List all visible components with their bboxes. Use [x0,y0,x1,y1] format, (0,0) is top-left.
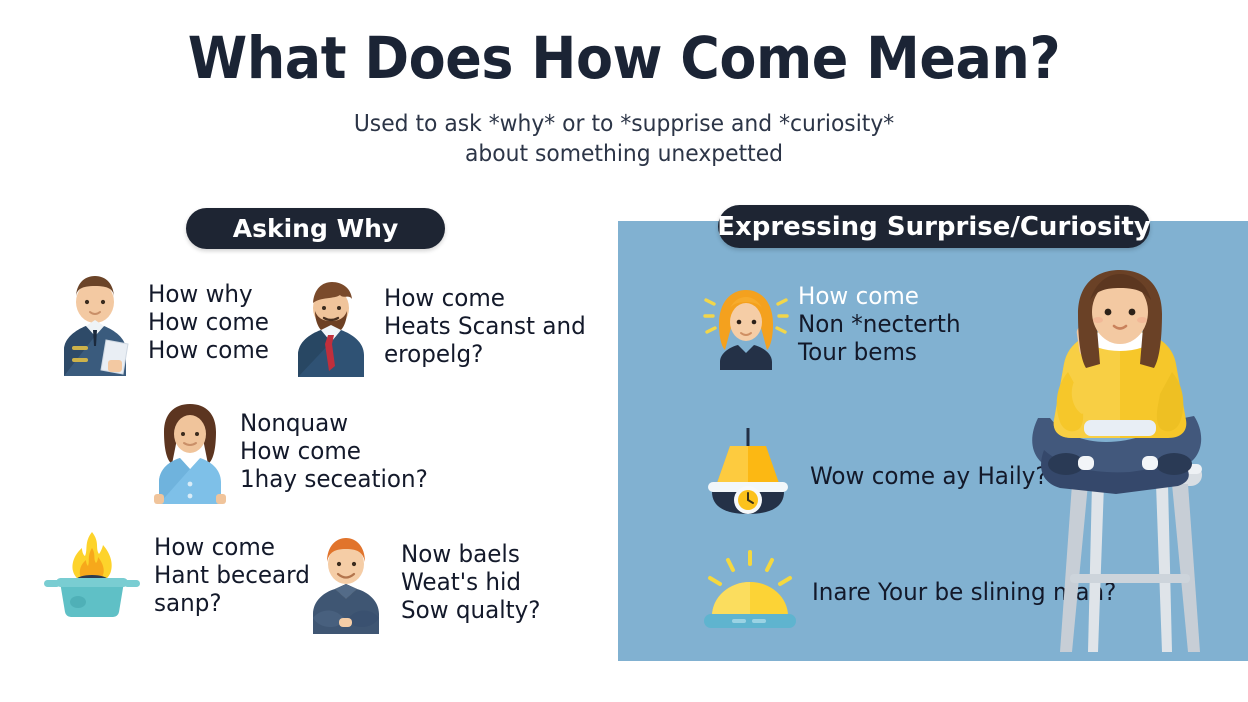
sunrise-icon [702,550,798,634]
item-asking-why-3: Nonquaw How come 1hay seceation? [150,398,436,504]
item-text: How why How come How come [148,280,269,364]
item-surprise-1: How come Non *necterth Tour bems [706,278,967,370]
text-line: sanp? [154,589,310,617]
item-text: Wow come ay Haily? [810,462,1048,490]
text-line-highlight: How come [798,282,961,310]
subtitle-line-1: Used to ask *why* or to *supprise and *c… [354,111,894,137]
bearded-businessman-icon [288,275,374,377]
text-line: How come [384,284,586,312]
woman-blue-blazer-icon [150,398,230,504]
item-asking-why-1: How why How come How come [52,268,274,376]
item-asking-why-4: How come Hant beceard sanp? [42,528,316,622]
page-title: What Does How Come Mean? [44,28,1205,89]
surprised-blonde-girl-icon [706,278,786,370]
text-line: How why [148,280,269,308]
text-line: How come [240,437,428,465]
text-line: eropelg? [384,340,586,368]
text-line: How come [148,336,269,364]
item-text: How come Non *necterth Tour bems [798,282,961,366]
lamp-clock-icon [700,428,796,524]
text-line: Sow qualty? [401,596,541,624]
item-asking-why-5: Now baels Weat's hid Sow qualty? [305,530,546,634]
officer-with-papers-icon [52,268,138,376]
subtitle-line-2: about something unexpetted [31,140,1217,170]
section-pill-expressing-surprise: Expressing Surprise/Curiosity [718,205,1150,248]
text-line: Non *necterth [798,310,961,338]
text-line: Now baels [401,540,541,568]
item-text: How come Heats Scanst and eropelg? [384,284,586,368]
woman-sitting-on-stool-illustration [1020,268,1240,660]
redhead-man-crossed-arms-icon [305,530,387,634]
flaming-pot-icon [42,528,142,622]
text-line: How come [154,533,310,561]
text-line: Wow come ay Haily? [810,462,1048,490]
text-line: How come [148,308,269,336]
item-text: Nonquaw How come 1hay seceation? [240,409,428,493]
text-line: 1hay seceation? [240,465,428,493]
text-line: Hant beceard [154,561,310,589]
item-asking-why-2: How come Heats Scanst and eropelg? [288,275,594,377]
item-surprise-2: Wow come ay Haily? [700,428,1058,524]
item-text: Now baels Weat's hid Sow qualty? [401,540,541,624]
text-line: Weat's hid [401,568,541,596]
section-pill-asking-why: Asking Why [186,208,445,249]
text-line: Heats Scanst and [384,312,586,340]
text-line: Nonquaw [240,409,428,437]
infographic-canvas: What Does How Come Mean? Used to ask *wh… [0,0,1248,702]
page-subtitle: Used to ask *why* or to *supprise and *c… [31,110,1217,170]
item-text: How come Hant beceard sanp? [154,533,310,617]
text-line: Tour bems [798,338,961,366]
